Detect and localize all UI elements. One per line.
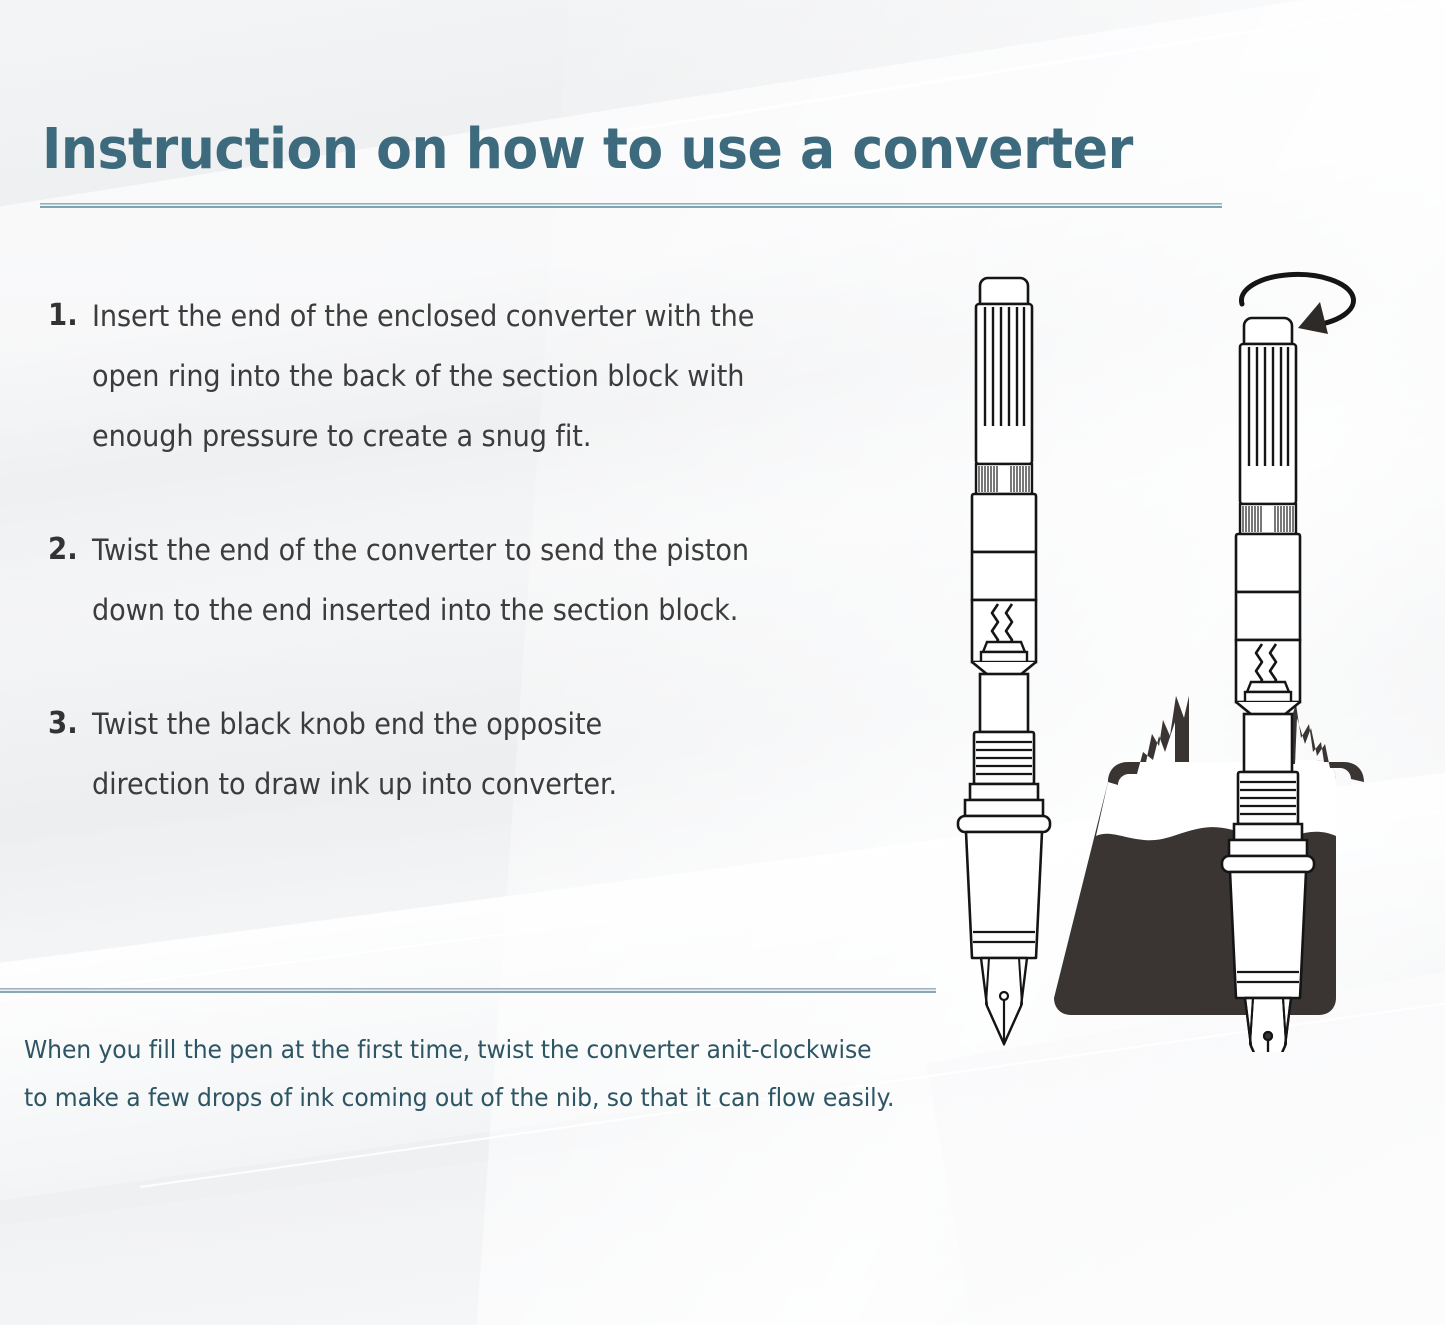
- ink-bottle: [1054, 696, 1364, 1015]
- step-text: Twist the black knob end the opposite di…: [92, 694, 892, 814]
- background-streak-3: [620, 0, 1445, 133]
- step-number: 1.: [48, 286, 88, 346]
- step-line: direction to draw ink up into converter.: [92, 754, 892, 814]
- left-pen-body-and-nib: [958, 674, 1050, 1044]
- step-text: Insert the end of the enclosed converter…: [92, 286, 892, 466]
- right-converter: [1236, 318, 1300, 728]
- left-converter: [972, 278, 1036, 688]
- left-pen-figure: [958, 278, 1050, 1044]
- instruction-steps-list: 1. Insert the end of the enclosed conver…: [48, 286, 948, 814]
- page-title-wrap: Instruction on how to use a converter: [42, 122, 1232, 178]
- instruction-step: 3. Twist the black knob end the opposite…: [48, 694, 948, 814]
- footer-note-line: to make a few drops of ink coming out of…: [24, 1074, 964, 1122]
- step-line: down to the end inserted into the sectio…: [92, 580, 892, 640]
- step-text: Twist the end of the converter to send t…: [92, 520, 892, 640]
- converter-illustration: [940, 262, 1440, 1052]
- instruction-graphic: Instruction on how to use a converter 1.…: [0, 0, 1445, 1325]
- footer-divider: [0, 988, 936, 993]
- step-line: Insert the end of the enclosed converter…: [92, 286, 892, 346]
- instruction-step: 2. Twist the end of the converter to sen…: [48, 520, 948, 640]
- title-underline: [40, 203, 1222, 208]
- step-number: 2.: [48, 520, 88, 580]
- step-line: Twist the end of the converter to send t…: [92, 520, 892, 580]
- footer-note: When you fill the pen at the first time,…: [24, 1026, 964, 1122]
- step-line: enough pressure to create a snug fit.: [92, 406, 892, 466]
- step-number: 3.: [48, 694, 88, 754]
- step-line: open ring into the back of the section b…: [92, 346, 892, 406]
- page-title: Instruction on how to use a converter: [42, 122, 1149, 178]
- instruction-step: 1. Insert the end of the enclosed conver…: [48, 286, 948, 466]
- step-line: Twist the black knob end the opposite: [92, 694, 892, 754]
- footer-note-line: When you fill the pen at the first time,…: [24, 1026, 964, 1074]
